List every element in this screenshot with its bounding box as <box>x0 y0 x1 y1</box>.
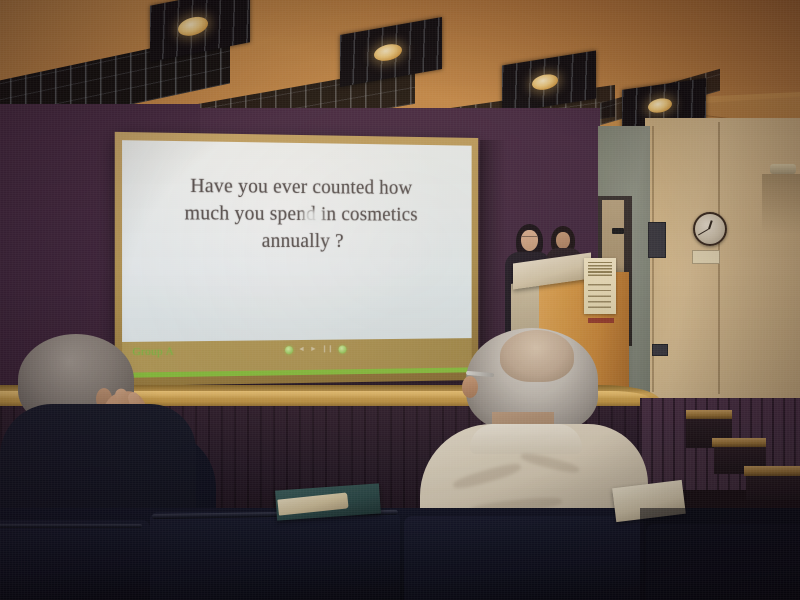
audience-member-right-collar <box>470 424 582 454</box>
projection-screen-surface: Have you ever counted how much you spend… <box>122 140 472 378</box>
audience-member-right-ear <box>462 376 478 398</box>
slide-title-line-1: Have you ever counted how <box>190 176 412 199</box>
slide-nav-controls[interactable]: ◄ ► ❙❙ <box>285 345 346 354</box>
slide-title-line-2: much you spend in cosmetics <box>185 203 418 225</box>
auditorium-photo: Have you ever counted how much you spend… <box>0 0 800 600</box>
wall-sconce <box>770 164 796 174</box>
lectern-accent-stripe <box>588 318 614 323</box>
projection-screen: Have you ever counted how much you spend… <box>115 132 478 386</box>
nav-dot-left-icon[interactable] <box>285 346 293 354</box>
foreground-shadow <box>640 508 800 600</box>
emergency-exit-light <box>612 228 624 234</box>
wall-tan-right <box>645 118 800 398</box>
nav-dot-right-icon[interactable] <box>338 345 346 353</box>
stage-step-top <box>686 410 732 419</box>
stage-step-riser-bottom <box>746 474 800 500</box>
clock-hour-hand <box>708 220 712 229</box>
seat-back-right[interactable] <box>404 516 644 600</box>
sconce-shadow <box>762 174 800 234</box>
slide-glare-smudge <box>303 210 323 224</box>
nav-back-icon[interactable]: ◄ <box>298 346 305 354</box>
lectern-sign <box>584 258 616 314</box>
seat-back-left[interactable] <box>0 520 150 600</box>
light-bulb-glow <box>374 42 402 63</box>
wall-clock <box>693 212 727 246</box>
seat-rail-left <box>0 524 142 528</box>
control-panel[interactable] <box>648 222 666 258</box>
control-panel-lower[interactable] <box>652 344 668 356</box>
stage-step-bottom <box>744 466 800 476</box>
nav-pause-icon[interactable]: ❙❙ <box>322 346 334 354</box>
slide-title-line-3: annually ? <box>262 231 344 252</box>
clock-minute-hand <box>698 228 709 235</box>
light-bulb-glow <box>648 97 672 114</box>
audience-member-right-scalp <box>500 330 574 382</box>
light-bulb-glow <box>178 14 208 38</box>
light-bulb-glow <box>532 73 558 92</box>
slide-group-label: Group A <box>132 345 174 358</box>
nav-forward-icon[interactable]: ► <box>310 346 317 354</box>
presenter-speaking-glasses <box>522 236 537 240</box>
presenter-second-face <box>556 232 570 249</box>
lectern-sign-logo <box>588 262 612 276</box>
wall-sign <box>692 250 720 264</box>
slide-footer-bar: Group A ◄ ► ❙❙ <box>122 338 472 378</box>
slide-title: Have you ever counted how much you spend… <box>145 173 455 256</box>
lectern-sign-text-lines <box>588 282 611 308</box>
seat-back-center[interactable] <box>150 512 400 600</box>
stage-step-middle <box>712 438 766 447</box>
presenter-speaking-face <box>521 230 538 251</box>
